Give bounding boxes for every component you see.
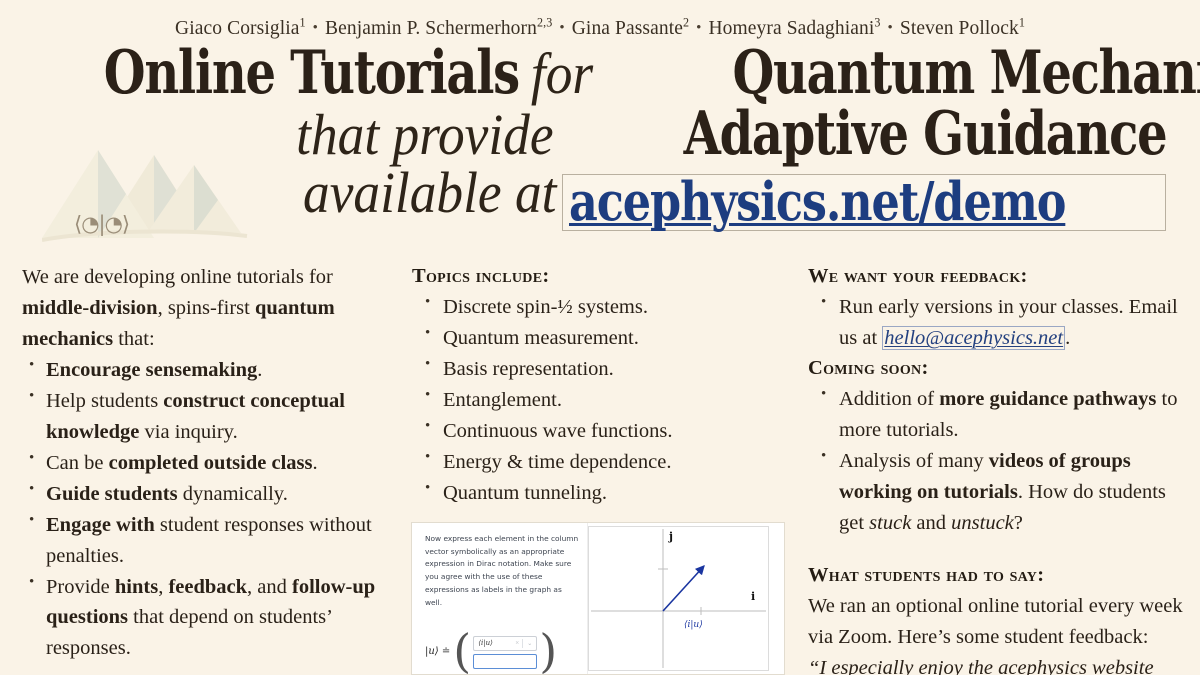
title-line-2: that provideAdaptive Guidance [0,105,1166,164]
bullet-bold: completed outside class [109,452,313,474]
author-name: Gina Passante [572,18,683,39]
author-line: Giaco Corsiglia1•Benjamin P. Schermerhor… [0,0,1200,40]
bullet-text: via inquiry. [139,421,237,443]
author-name: Benjamin P. Schermerhorn [325,18,537,39]
cs-text-2: and [911,512,951,534]
list-item: Energy & time dependence. [412,447,790,478]
intro-text-3: that: [113,328,155,350]
demo-url-box[interactable]: acephysics.net/demo [562,174,1166,231]
demo-url-link[interactable]: acephysics.net/demo [569,177,1065,229]
cs-italic-stuck: stuck [869,512,911,534]
bullet-text-lead: Can be [46,452,109,474]
list-item: Quantum measurement. [412,323,790,354]
bullet-text-1: , [158,576,168,598]
graph-frame [589,527,769,671]
author-separator-icon: • [306,20,325,37]
bullet-text-2: , and [247,576,292,598]
author-separator-icon: • [881,20,900,37]
app-prompt-pane: Now express each element in the column v… [412,523,587,674]
email-link[interactable]: hello@acephysics.net [882,326,1065,350]
list-item: Continuous wave functions. [412,416,790,447]
title-bold-online-tutorials: Online Tutorials [104,44,519,103]
author-entry: Steven Pollock1 [900,18,1025,39]
column-right: We want your feedback: Run early version… [800,262,1200,675]
students-intro: We ran an optional online tutorial every… [808,591,1186,653]
students-heading: What students had to say: [808,561,1186,590]
matrix-select-value: ⟨i|u⟩ [474,639,515,647]
bullet-bold: Guide students [46,483,178,505]
bullet-text-lead: Help students [46,390,163,412]
app-graph-pane: j i ⟨i|u⟩ [587,523,784,674]
cs-bold: more guidance pathways [939,388,1156,410]
title-bold-adaptive-guidance: Adaptive Guidance [683,105,1166,164]
author-separator-icon: • [552,20,571,37]
author-affiliation: 1 [1019,16,1025,30]
bullet-text: . [312,452,317,474]
app-formula-row: |u⟩ ≐ ( ⟨i|u⟩ × ⌄ ) [425,630,557,674]
list-item: Help students construct conceptual knowl… [22,386,386,448]
author-entry: Homeyra Sadaghiani3 [709,18,881,39]
vector-graph: j i ⟨i|u⟩ [588,523,784,674]
cs-text-lead: Analysis of many [839,450,989,472]
author-affiliation: 2,3 [537,16,552,30]
cs-text-3: ? [1014,512,1023,534]
list-item: Engage with student responses without pe… [22,510,386,572]
matrix-close-paren-icon: ) [539,635,557,668]
matrix-open-paren-icon: ( [453,635,471,668]
author-entry: Giaco Corsiglia1 [175,18,306,39]
topics-heading: Topics include: [412,262,790,291]
bullet-text-lead: Provide [46,576,115,598]
coming-soon-list: Addition of more guidance pathways to mo… [808,384,1186,539]
bullet-bold: Encourage sensemaking [46,359,257,381]
list-item: Provide hints, feedback, and follow-up q… [22,572,386,665]
cs-text-lead: Addition of [839,388,939,410]
graph-y-axis-label: j [668,530,673,543]
ket-u-label: |u⟩ ≐ [425,646,450,659]
student-quote: “I especially enjoy the acephysics websi… [808,653,1186,675]
list-item: Discrete spin-½ systems. [412,292,790,323]
author-entry: Benjamin P. Schermerhorn2,3 [325,18,552,39]
matrix-select-row-2[interactable] [473,654,537,669]
author-separator-icon: • [689,20,708,37]
poster-title: Online TutorialsforQuantum Mechanics tha… [0,44,1200,231]
coming-soon-heading: Coming soon: [808,354,1186,383]
list-item: Guide students dynamically. [22,479,386,510]
author-name: Homeyra Sadaghiani [709,18,875,39]
feedback-heading: We want your feedback: [808,262,1186,291]
title-italic-available-at: available at [303,165,556,222]
bullet-bold: Engage with [46,514,155,536]
list-item: Analysis of many videos of groups workin… [808,446,1186,539]
author-name: Giaco Corsiglia [175,18,299,39]
intro-bold-1: middle-division [22,297,158,319]
feedback-text-end: . [1065,327,1070,349]
feedback-list: Run early versions in your classes. Emai… [808,292,1186,354]
title-line-1: Online TutorialsforQuantum Mechanics [0,44,1166,103]
title-bold-quantum-mechanics: Quantum Mechanics [732,44,1200,103]
list-item: Encourage sensemaking. [22,355,386,386]
list-item: Quantum tunneling. [412,478,790,509]
intro-text-1: We are developing online tutorials for [22,266,333,288]
author-name: Steven Pollock [900,18,1019,39]
title-italic-that-provide: that provide [296,107,563,164]
matrix-entries: ⟨i|u⟩ × ⌄ [471,636,539,669]
column-left: We are developing online tutorials for m… [0,262,400,675]
list-item: Basis representation. [412,354,790,385]
list-item: Can be completed outside class. [22,448,386,479]
topics-list: Discrete spin-½ systems. Quantum measure… [412,292,790,509]
matrix-select-row-1[interactable]: ⟨i|u⟩ × ⌄ [473,636,537,651]
bullet-bold-2: feedback [168,576,247,598]
intro-paragraph: We are developing online tutorials for m… [22,262,386,355]
cs-italic-unstuck: unstuck [951,512,1014,534]
bullet-bold-1: hints [115,576,158,598]
author-entry: Gina Passante2 [572,18,689,39]
title-line-3: available atacephysics.net/demo [0,165,1166,231]
list-item: Addition of more guidance pathways to mo… [808,384,1186,446]
chevron-down-icon[interactable]: ⌄ [523,640,536,647]
left-bullet-list: Encourage sensemaking. Help students con… [22,355,386,665]
graph-vector-label: ⟨i|u⟩ [684,620,703,630]
graph-x-axis-label: i [751,590,755,603]
bullet-text: dynamically. [178,483,288,505]
tutorial-app-screenshot[interactable]: Now express each element in the column v… [411,522,785,675]
app-prompt-text: Now express each element in the column v… [425,533,579,609]
bullet-text: . [257,359,262,381]
list-item: Entanglement. [412,385,790,416]
clear-icon[interactable]: × [515,639,522,647]
list-item: Run early versions in your classes. Emai… [808,292,1186,354]
intro-text-2: , spins-first [158,297,255,319]
title-italic-for: for [525,46,598,103]
